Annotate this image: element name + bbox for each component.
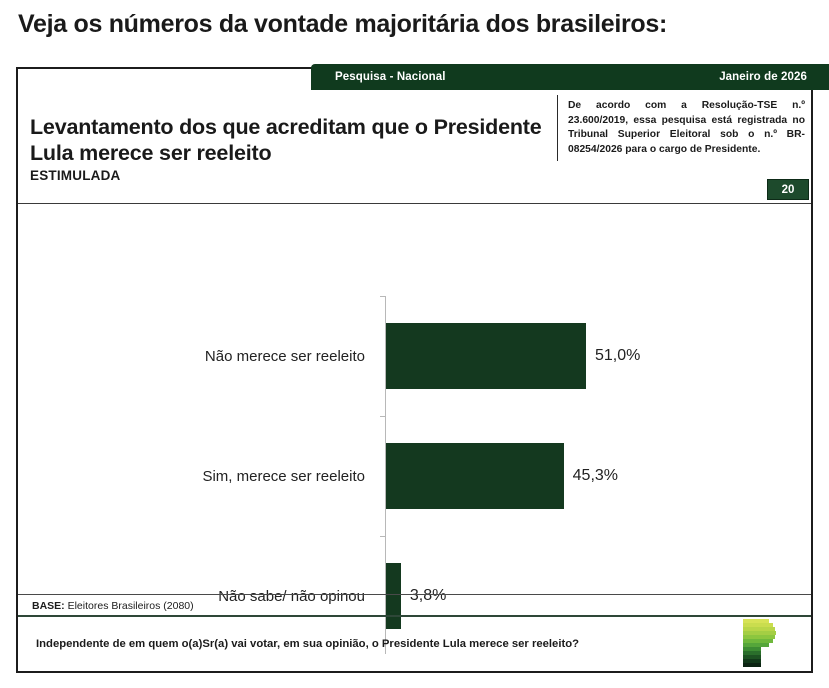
slide-page: Veja os números da vontade majoritária d…	[0, 0, 829, 688]
tse-registration-box: De acordo com a Resolução-TSE n.º 23.600…	[557, 95, 813, 161]
survey-question-text: Independente de em quem o(a)Sr(a) vai vo…	[36, 638, 579, 650]
slide-topbar: Pesquisa - Nacional Janeiro de 2026	[311, 64, 829, 90]
paranapesquisas-logo-icon	[739, 619, 781, 669]
logo-bar-segment	[743, 663, 761, 667]
base-divider	[18, 594, 811, 595]
question-footer: Independente de em quem o(a)Sr(a) vai vo…	[18, 617, 811, 671]
survey-scope-label: Pesquisa - Nacional	[335, 71, 446, 83]
base-row: BASE: Eleitores Brasileiros (2080)	[32, 600, 194, 612]
tse-registration-text: De acordo com a Resolução-TSE n.º 23.600…	[568, 99, 805, 157]
page-headline: Veja os números da vontade majoritária d…	[18, 10, 808, 39]
bar-row: Sim, merece ser reeleito 45,3%	[18, 416, 811, 536]
bar-row: Não merece ser reeleito 51,0%	[18, 296, 811, 416]
survey-slide-card: Pesquisa - Nacional Janeiro de 2026 De a…	[16, 67, 813, 673]
base-label: BASE:	[32, 600, 65, 612]
bar-value-label: 51,0%	[595, 347, 640, 365]
base-value: Eleitores Brasileiros (2080)	[68, 600, 194, 612]
slide-subtitle: ESTIMULADA	[30, 168, 550, 183]
bar-fill	[386, 443, 564, 509]
page-number-badge: 20	[767, 179, 809, 200]
bar-category-label: Não merece ser reeleito	[18, 348, 375, 365]
bar-track: 51,0%	[386, 323, 640, 389]
bar-value-label: 3,8%	[410, 587, 446, 605]
slide-title-block: Levantamento dos que acreditam que o Pre…	[30, 114, 550, 183]
slide-title: Levantamento dos que acreditam que o Pre…	[30, 114, 550, 166]
bar-chart: Não merece ser reeleito 51,0% Sim, merec…	[18, 204, 811, 590]
bar-fill	[386, 323, 586, 389]
bar-value-label: 45,3%	[573, 467, 618, 485]
bar-track: 45,3%	[386, 443, 618, 509]
bar-category-label: Sim, merece ser reeleito	[18, 468, 375, 485]
survey-date-label: Janeiro de 2026	[719, 71, 807, 83]
